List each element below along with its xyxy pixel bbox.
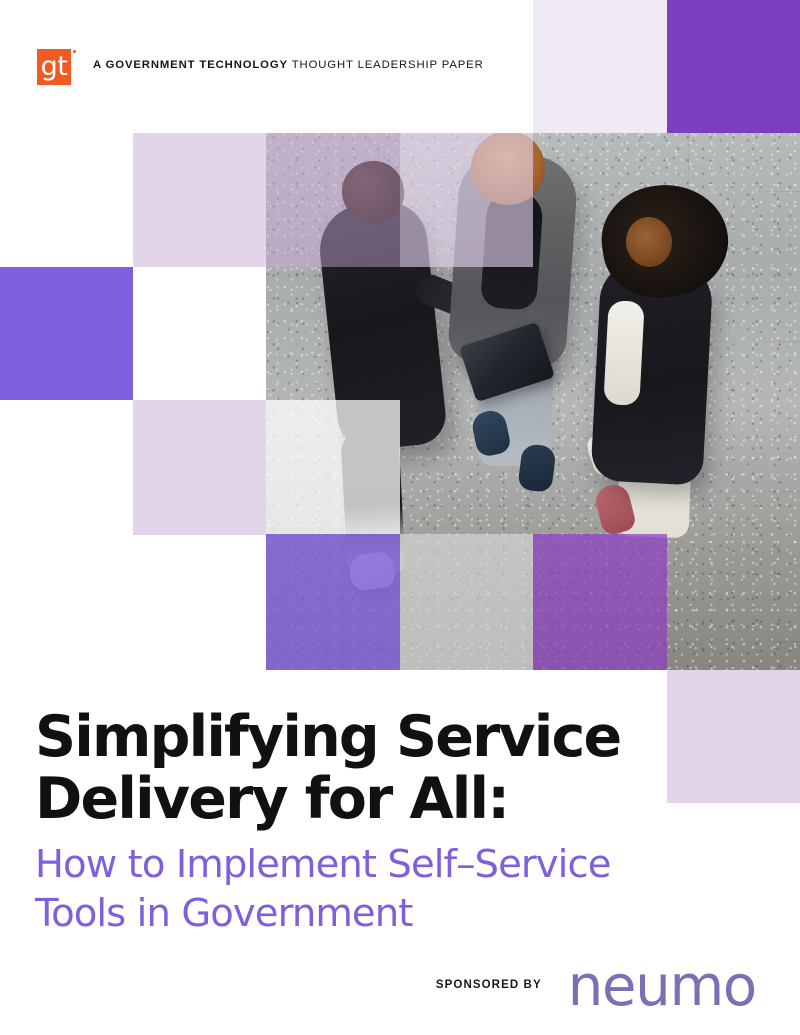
tile-lilac-upper-left xyxy=(133,133,266,267)
tile-photo-overlay-lilac-b xyxy=(400,133,533,267)
page-subtitle: How to Implement Self–Service Tools in G… xyxy=(35,840,735,938)
page-title: Simplifying Service Delivery for All: xyxy=(35,706,735,830)
header-kicker-brand: A GOVERNMENT TECHNOLOGY xyxy=(93,59,288,71)
header-kicker: A GOVERNMENT TECHNOLOGY THOUGHT LEADERSH… xyxy=(93,60,484,71)
tile-photo-overlay-lilac-a xyxy=(266,133,400,267)
tile-left-purple-block xyxy=(0,267,133,400)
cover-title-block: Simplifying Service Delivery for All: Ho… xyxy=(35,706,735,938)
tile-top-purple-solid xyxy=(667,0,800,133)
sponsor-row: SPONSORED BY neumo xyxy=(0,959,800,1015)
tile-photo-overlay-grey xyxy=(400,534,533,670)
tile-top-lilac-pale xyxy=(533,0,667,133)
tile-photo-overlay-white xyxy=(266,400,400,534)
tile-photo-overlay-purple-left xyxy=(266,534,400,670)
tile-photo-overlay-purple-right xyxy=(533,534,667,670)
trademark-dot-icon xyxy=(73,50,76,53)
gt-logo: gt xyxy=(37,49,71,85)
gt-logo-wordmark: gt xyxy=(41,53,68,80)
neumo-logo: neumo xyxy=(568,959,756,1015)
tile-lilac-mid-left xyxy=(133,400,266,535)
person-center-shoe-right xyxy=(517,443,556,493)
header-kicker-descriptor: THOUGHT LEADERSHIP PAPER xyxy=(288,59,484,71)
person-right-top xyxy=(603,300,644,406)
sponsored-by-label: SPONSORED BY xyxy=(436,980,542,994)
